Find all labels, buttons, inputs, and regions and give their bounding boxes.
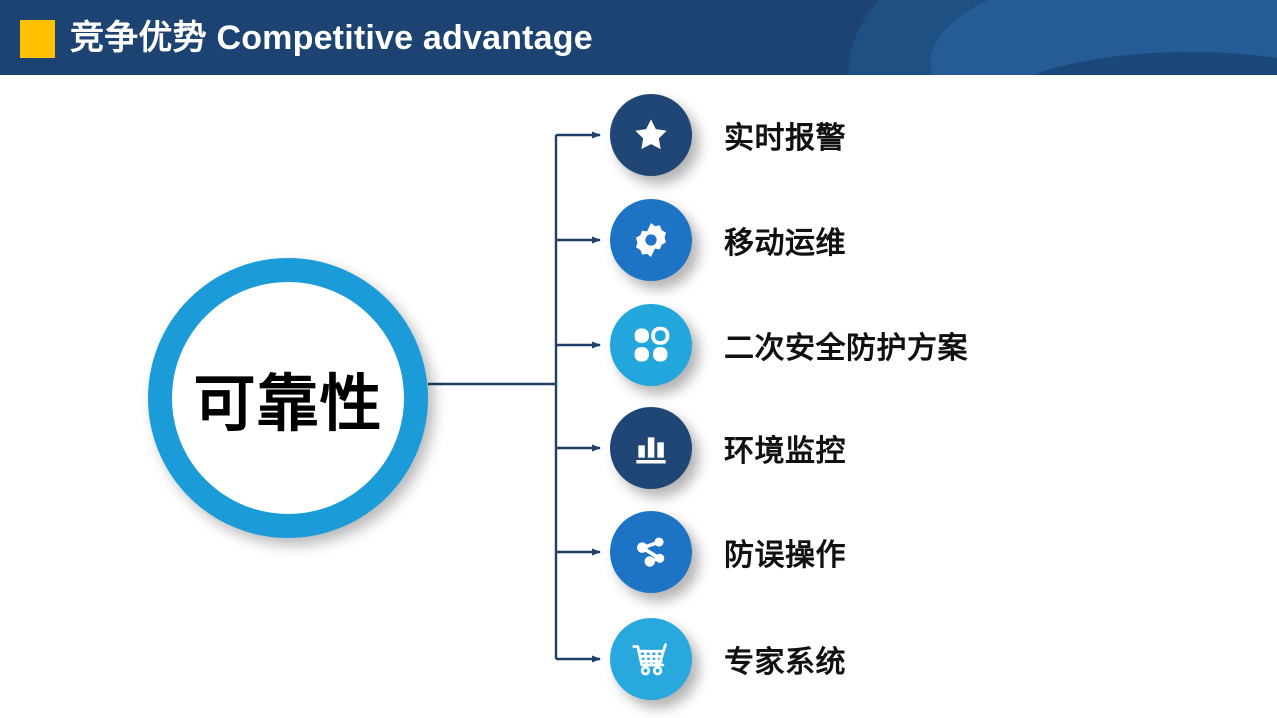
- branch-row-5[interactable]: 防误操作: [610, 511, 1210, 593]
- branch-row-3[interactable]: 二次安全防护方案: [610, 304, 1210, 386]
- page-title: 竞争优势 Competitive advantage: [70, 13, 593, 63]
- header-decor-curve-inner: [990, 52, 1277, 75]
- branch-row-1[interactable]: 实时报警: [610, 94, 1210, 176]
- header-square-marker-icon: [20, 20, 55, 58]
- branch-label-2: 移动运维: [724, 218, 846, 262]
- branch-label-1: 实时报警: [724, 113, 846, 157]
- branch-row-2[interactable]: 移动运维: [610, 199, 1210, 281]
- star-icon[interactable]: [610, 94, 692, 176]
- slide-header: 竞争优势 Competitive advantage: [0, 0, 1277, 75]
- branch-row-6[interactable]: 专家系统: [610, 618, 1210, 700]
- branch-row-4[interactable]: 环境监控: [610, 407, 1210, 489]
- header-decor-curve-middle: [925, 0, 1277, 75]
- branch-label-4: 环境监控: [724, 426, 846, 470]
- clover-icon[interactable]: [610, 304, 692, 386]
- slide-canvas: 竞争优势 Competitive advantage 可靠性: [0, 0, 1277, 718]
- hub-label: 可靠性: [148, 258, 428, 538]
- branch-label-3: 二次安全防护方案: [724, 323, 968, 367]
- bar-chart-icon[interactable]: [610, 407, 692, 489]
- gear-icon[interactable]: [610, 199, 692, 281]
- branch-label-5: 防误操作: [724, 530, 846, 574]
- share-nodes-icon[interactable]: [610, 511, 692, 593]
- shopping-cart-icon[interactable]: [610, 618, 692, 700]
- header-decor-curve-outer: [833, 0, 1277, 75]
- branch-label-6: 专家系统: [724, 637, 846, 681]
